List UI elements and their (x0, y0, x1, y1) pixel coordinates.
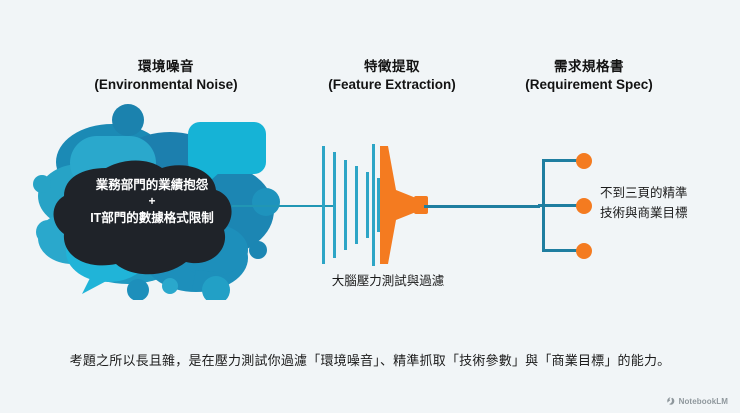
heading-feature-en: (Feature Extraction) (292, 76, 492, 94)
connector-funnel-to-spec (424, 205, 540, 208)
connector-noise-to-funnel (232, 205, 336, 207)
heading-noise-cn: 環境噪音 (44, 58, 288, 76)
slide-canvas: 環境噪音 (Environmental Noise) 特徵提取 (Feature… (0, 0, 740, 413)
watermark-text: NotebookLM (679, 397, 728, 406)
filter-bar-3 (344, 160, 347, 250)
filter-bar-2 (333, 152, 336, 258)
filter-bar-5 (366, 172, 369, 238)
notebooklm-watermark: NotebookLM (666, 396, 728, 406)
heading-environmental-noise: 環境噪音 (Environmental Noise) (44, 58, 288, 94)
filter-bar-1 (322, 146, 325, 264)
heading-noise-en: (Environmental Noise) (44, 76, 288, 94)
funnel-caption: 大腦壓力測試與過濾 (288, 270, 488, 289)
heading-feature-cn: 特徵提取 (292, 58, 492, 76)
heading-feature-extraction: 特徵提取 (Feature Extraction) (292, 58, 492, 94)
spec-text: 不到三頁的精準 技術與商業目標 (600, 183, 730, 224)
notebooklm-logo-icon (666, 396, 676, 406)
filter-bar-4 (355, 166, 358, 244)
spec-bracket-with-dots (538, 140, 608, 270)
speech-bubble-cluster (20, 100, 300, 300)
spec-text-line2: 技術與商業目標 (600, 203, 730, 223)
spec-text-line1: 不到三頁的精準 (600, 183, 730, 203)
heading-requirement-spec: 需求規格書 (Requirement Spec) (478, 58, 700, 94)
heading-spec-cn: 需求規格書 (478, 58, 700, 76)
bottom-caption: 考題之所以長且雜，是在壓力測試你過濾「環境噪音」、精準抓取「技術參數」與「商業目… (0, 350, 740, 369)
heading-spec-en: (Requirement Spec) (478, 76, 700, 94)
